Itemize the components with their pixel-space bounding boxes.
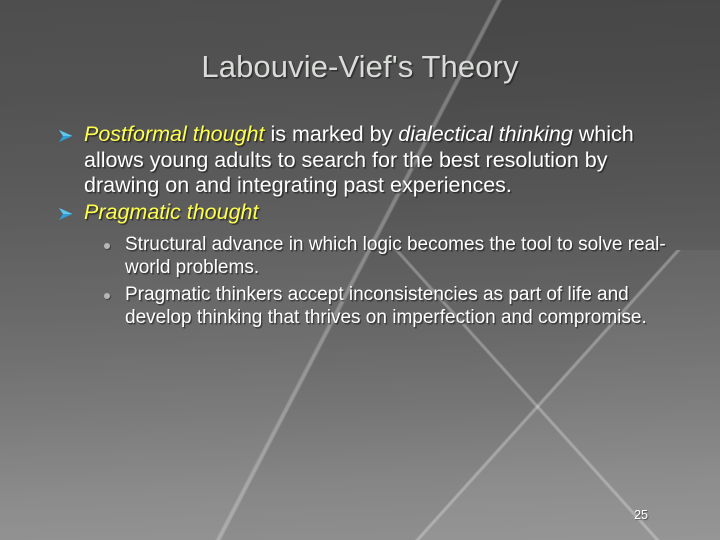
arrow-bullet-icon <box>58 200 84 221</box>
presentation-slide: Labouvie-Vief's Theory Postformal though… <box>0 0 720 540</box>
slide-body: Postformal thought is marked by dialecti… <box>58 122 672 333</box>
dot-bullet-icon <box>104 283 125 299</box>
bullet-1-run-1: is marked by <box>264 122 398 146</box>
page-title: Labouvie-Vief's Theory <box>0 48 720 86</box>
list-item: Pragmatic thinkers accept inconsistencie… <box>104 283 672 329</box>
arrow-bullet-icon <box>58 122 84 143</box>
sub-bullet-2-text: Pragmatic thinkers accept inconsistencie… <box>125 283 672 329</box>
list-item: Pragmatic thought <box>58 200 672 226</box>
slide-number: 25 <box>634 508 648 522</box>
bullet-1-run-2: dialectical thinking <box>398 122 573 146</box>
bullet-2-heading: Pragmatic thought <box>84 200 672 226</box>
sub-bullet-list: Structural advance in which logic become… <box>58 233 672 329</box>
bullet-1-run-0: Postformal thought <box>84 122 264 146</box>
bullet-1-text: Postformal thought is marked by dialecti… <box>84 122 672 199</box>
sub-bullet-1-text: Structural advance in which logic become… <box>125 233 672 279</box>
list-item: Postformal thought is marked by dialecti… <box>58 122 672 199</box>
dot-bullet-icon <box>104 233 125 249</box>
list-item: Structural advance in which logic become… <box>104 233 672 279</box>
